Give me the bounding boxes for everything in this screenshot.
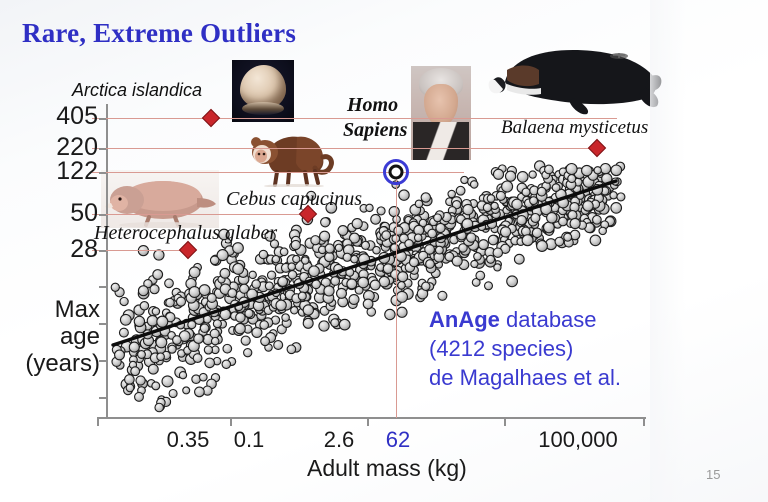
label-arctica-islandica: Arctica islandica bbox=[72, 80, 202, 101]
anage-credit-line-2: (4212 species) bbox=[429, 334, 621, 363]
label-cebus-capucinus: Cebus capucinus bbox=[226, 188, 362, 211]
y-tick-mark bbox=[99, 360, 106, 362]
homo-sapiens-dropline bbox=[396, 172, 397, 418]
y-axis-title-line-1: Max bbox=[8, 297, 100, 324]
slide-canvas: Rare, Extreme Outliers bbox=[0, 0, 768, 502]
leader-line-50 bbox=[92, 214, 316, 215]
label-heterocephalus-glaber: Heterocephalus glaber bbox=[94, 222, 277, 245]
label-homo-sapiens-line-1: Homo bbox=[347, 94, 398, 117]
anage-name-suffix: database bbox=[500, 307, 597, 332]
x-axis-line bbox=[97, 417, 646, 419]
y-axis-title-line-3: (years) bbox=[8, 351, 100, 378]
x-tick-label-0-1: 0.1 bbox=[234, 427, 265, 453]
label-balaena-mysticetus: Balaena mysticetus bbox=[501, 117, 648, 139]
x-tick-mark bbox=[504, 418, 506, 426]
x-tick-label-62: 62 bbox=[386, 427, 410, 453]
y-tick-label-405: 405 bbox=[56, 104, 98, 129]
y-tick-label-122: 122 bbox=[56, 159, 98, 184]
marker-homo-sapiens bbox=[389, 165, 404, 180]
y-axis-title: Max age (years) bbox=[8, 297, 100, 378]
x-tick-mark bbox=[367, 418, 369, 426]
y-tick-mark bbox=[99, 148, 106, 150]
x-tick-label-100000: 100,000 bbox=[538, 427, 618, 453]
y-tick-mark bbox=[99, 286, 106, 288]
y-tick-mark bbox=[99, 214, 106, 216]
x-tick-mark bbox=[230, 418, 232, 426]
leader-line-220 bbox=[92, 148, 604, 149]
y-tick-mark bbox=[99, 118, 106, 120]
scatter-plot-cloud bbox=[0, 0, 768, 502]
y-tick-mark bbox=[99, 323, 106, 325]
anage-name: AnAge bbox=[429, 307, 500, 332]
y-tick-mark bbox=[99, 250, 106, 252]
y-axis-title-line-2: age bbox=[8, 324, 100, 351]
anage-credit-line-1: AnAge database bbox=[429, 305, 621, 334]
y-tick-mark bbox=[99, 172, 106, 174]
slide-number: 15 bbox=[706, 467, 720, 482]
anage-credit-block: AnAge database (4212 species) de Magalha… bbox=[429, 305, 621, 392]
x-tick-label-2-6: 2.6 bbox=[324, 427, 355, 453]
label-homo-sapiens-line-2: Sapiens bbox=[343, 119, 407, 142]
y-axis-line bbox=[106, 104, 108, 419]
x-tick-label-0-35: 0.35 bbox=[167, 427, 210, 453]
y-tick-mark bbox=[99, 397, 106, 399]
x-tick-mark bbox=[97, 418, 99, 426]
anage-credit-line-3: de Magalhaes et al. bbox=[429, 363, 621, 392]
x-tick-mark bbox=[643, 418, 645, 426]
x-axis-title: Adult mass (kg) bbox=[307, 455, 467, 482]
